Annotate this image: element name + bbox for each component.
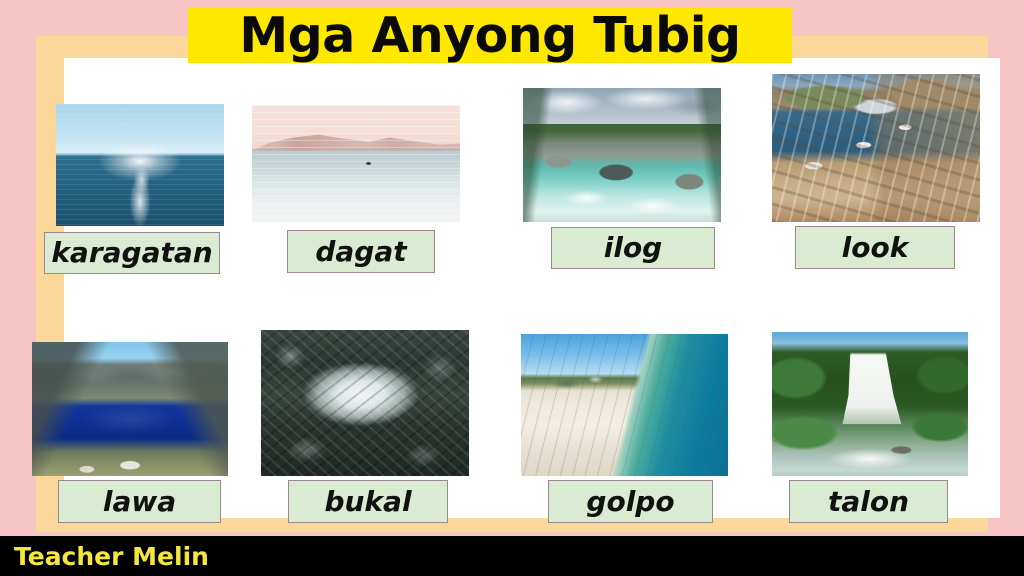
slide-canvas: Mga Anyong Tubig karagatan dagat ilog — [0, 0, 1024, 576]
spring-photo — [261, 330, 469, 476]
label-text-dagat: dagat — [315, 238, 406, 266]
label-box-karagatan[interactable]: karagatan — [44, 232, 220, 274]
gulf-photo — [521, 334, 728, 476]
ocean-photo-scene — [56, 104, 224, 226]
sea-photo-scene — [252, 105, 460, 222]
label-text-bukal: bukal — [324, 488, 411, 516]
bay-photo-scene — [772, 74, 980, 222]
label-text-ilog: ilog — [604, 234, 662, 262]
sea-photo — [252, 105, 460, 222]
bay-photo — [772, 74, 980, 222]
spring-photo-scene — [261, 330, 469, 476]
label-box-lawa[interactable]: lawa — [58, 480, 221, 523]
lake-photo — [32, 342, 228, 476]
label-box-golpo[interactable]: golpo — [548, 480, 713, 523]
label-text-karagatan: karagatan — [51, 239, 212, 267]
waterfall-photo-scene — [772, 332, 968, 476]
river-photo-scene — [523, 88, 721, 222]
label-box-look[interactable]: look — [795, 226, 955, 269]
label-box-talon[interactable]: talon — [789, 480, 948, 523]
page-title: Mga Anyong Tubig — [239, 11, 740, 60]
label-text-talon: talon — [828, 488, 909, 516]
label-box-ilog[interactable]: ilog — [551, 227, 715, 269]
lake-photo-scene — [32, 342, 228, 476]
label-text-look: look — [842, 234, 909, 262]
ocean-photo — [56, 104, 224, 226]
title-highlight-band: Mga Anyong Tubig — [188, 7, 792, 63]
label-box-dagat[interactable]: dagat — [287, 230, 435, 273]
gulf-photo-scene — [521, 334, 728, 476]
river-photo — [523, 88, 721, 222]
label-text-lawa: lawa — [103, 488, 176, 516]
label-box-bukal[interactable]: bukal — [288, 480, 448, 523]
waterfall-photo — [772, 332, 968, 476]
label-text-golpo: golpo — [586, 488, 674, 516]
footer-bar: Teacher Melin — [0, 536, 1024, 576]
footer-credit: Teacher Melin — [0, 542, 209, 571]
